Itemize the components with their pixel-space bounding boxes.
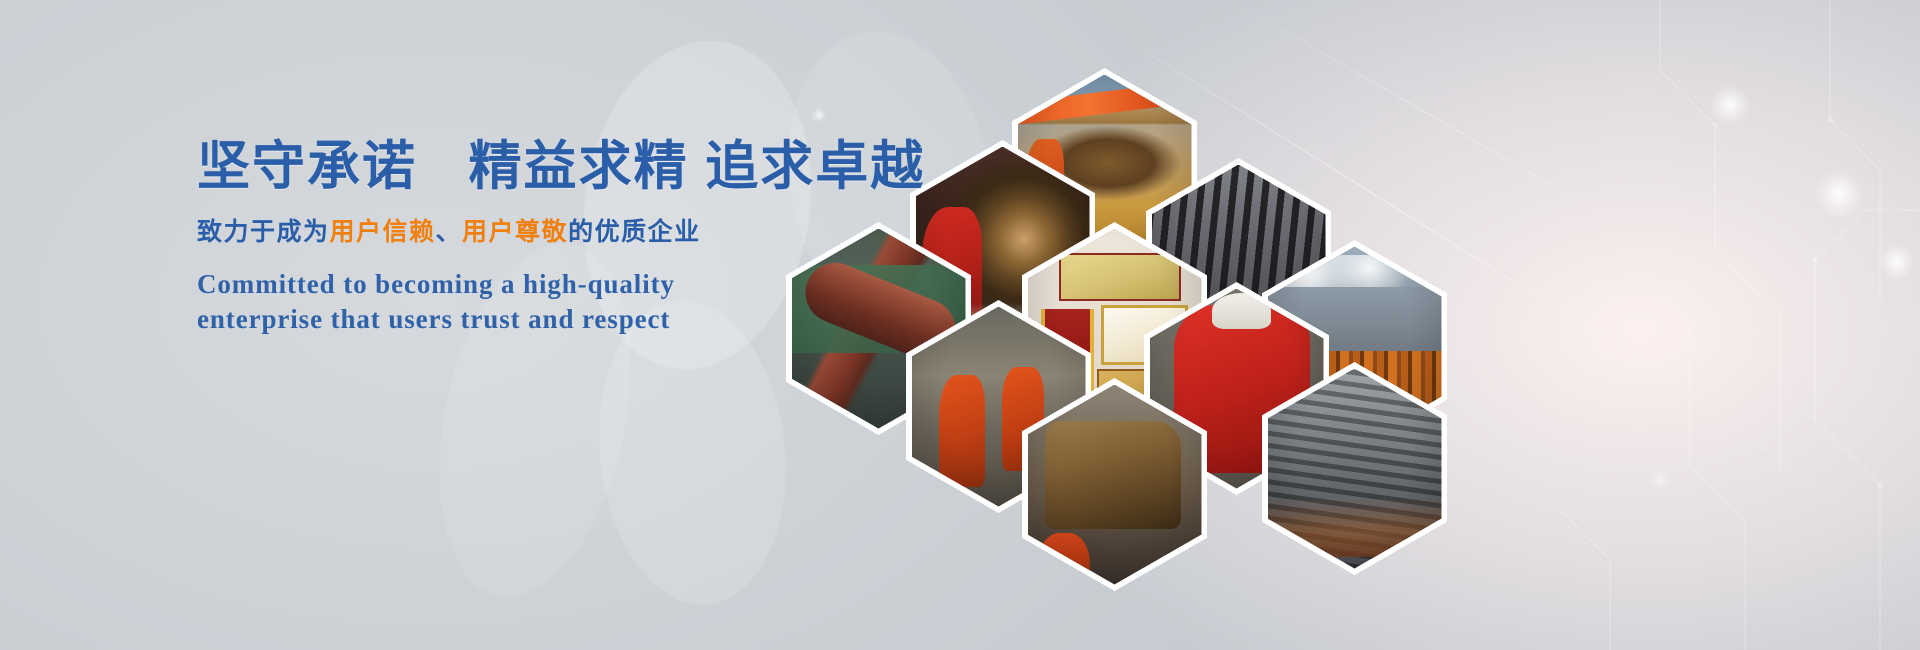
english-line-1: Committed to becoming a high-quality <box>197 267 767 302</box>
subline-prefix: 致力于成为 <box>197 218 330 246</box>
headline-part-1: 坚守承诺 <box>197 137 417 196</box>
tile-vignette <box>1268 369 1442 569</box>
subline-highlight-2: 用户尊敬 <box>462 218 568 246</box>
tile-vignette <box>1028 385 1202 585</box>
banner-headline: 坚守承诺 精益求精 追求卓越 <box>197 137 937 196</box>
subline-suffix: 的优质企业 <box>568 218 701 246</box>
banner-subline: 致力于成为用户信赖、用户尊敬的优质企业 <box>197 212 937 248</box>
subline-highlight-1: 用户信赖 <box>330 218 436 246</box>
headline-part-2: 精益求精 追求卓越 <box>468 137 925 196</box>
hero-banner: 坚守承诺 精益求精 追求卓越 致力于成为用户信赖、用户尊敬的优质企业 Commi… <box>0 0 1920 650</box>
banner-english-tagline: Committed to becoming a high-quality ent… <box>197 267 767 337</box>
subline-separator: 、 <box>436 218 463 246</box>
english-line-2: enterprise that users trust and respect <box>197 302 767 337</box>
banner-copy: 坚守承诺 精益求精 追求卓越 致力于成为用户信赖、用户尊敬的优质企业 Commi… <box>197 137 937 338</box>
